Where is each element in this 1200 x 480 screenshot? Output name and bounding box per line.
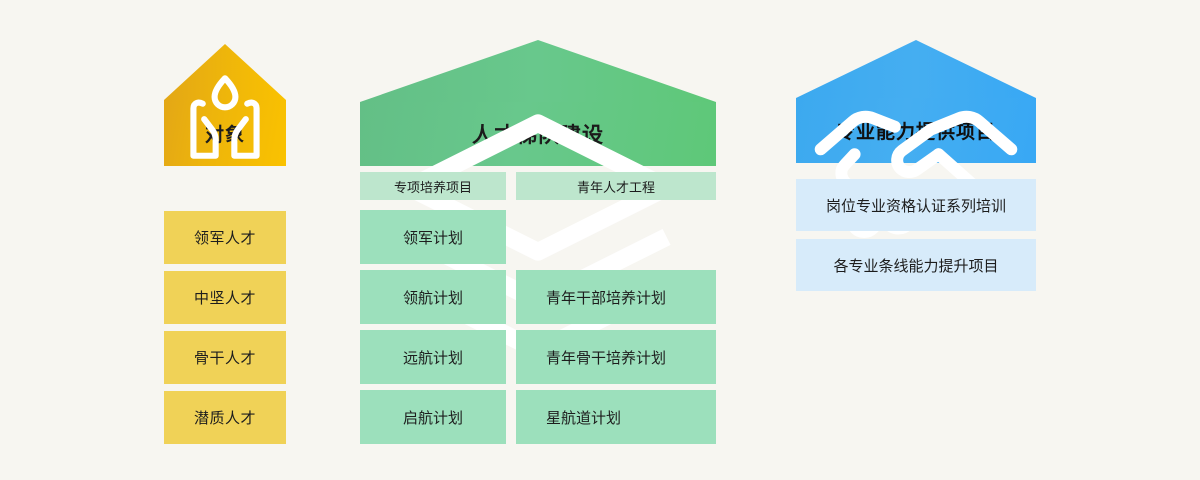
table-row: 领军计划 [360, 210, 716, 264]
hands-seedling-icon [164, 56, 286, 178]
talent-pipeline-header-row: 专项培养项目 青年人才工程 [360, 172, 716, 200]
table-row: 远航计划 青年骨干培养计划 [360, 330, 716, 384]
diagram-canvas: 对象 领军人才 中坚人才 骨干人才 潜质人才 [0, 0, 1200, 480]
table-cell[interactable]: 领军计划 [360, 210, 506, 264]
table-cell[interactable]: 青年骨干培养计划 [516, 330, 716, 384]
table-row: 启航计划 星航道计划 [360, 390, 716, 444]
column-header-special-program: 专项培养项目 [360, 172, 506, 200]
object-row-list: 领军人才 中坚人才 骨干人才 潜质人才 [164, 211, 286, 451]
list-item[interactable]: 中坚人才 [164, 271, 286, 324]
list-item[interactable]: 各专业条线能力提升项目 [796, 239, 1036, 291]
roof-object [164, 44, 286, 100]
talent-pipeline-grid: 专项培养项目 青年人才工程 领军计划 领航计划 青年干部培养计划 远航计划 青年… [360, 172, 716, 450]
table-cell[interactable]: 远航计划 [360, 330, 506, 384]
list-item[interactable]: 岗位专业资格认证系列培训 [796, 179, 1036, 231]
list-item[interactable]: 潜质人才 [164, 391, 286, 444]
roof-talent-pipeline [360, 40, 716, 102]
table-row: 领航计划 青年干部培养计划 [360, 270, 716, 324]
table-cell[interactable]: 领航计划 [360, 270, 506, 324]
table-cell[interactable]: 星航道计划 [516, 390, 716, 444]
roof-professional-capability [796, 40, 1036, 98]
column-header-youth-program: 青年人才工程 [516, 172, 716, 200]
house-professional-capability: 专业能力提供项目 [796, 40, 1036, 163]
table-cell-empty [516, 210, 716, 264]
house-talent-pipeline: 人才梯队建设 [360, 40, 716, 166]
table-cell[interactable]: 启航计划 [360, 390, 506, 444]
list-item[interactable]: 骨干人才 [164, 331, 286, 384]
table-cell[interactable]: 青年干部培养计划 [516, 270, 716, 324]
list-item[interactable]: 领军人才 [164, 211, 286, 264]
house-object: 对象 [164, 44, 286, 166]
professional-capability-row-list: 岗位专业资格认证系列培训 各专业条线能力提升项目 [796, 179, 1036, 299]
